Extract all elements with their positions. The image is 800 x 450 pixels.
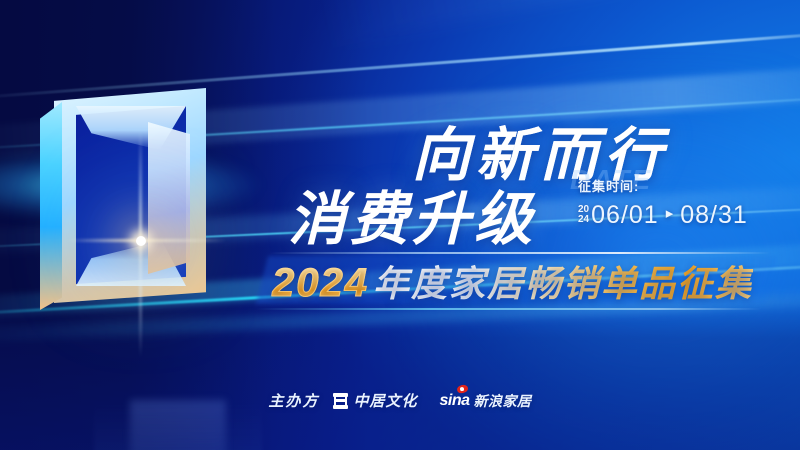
date-range-row: 20 24 06/01 ▸ 08/31	[578, 201, 793, 230]
footer-organizers: 主办方 中居文化 sina 新浪家居	[0, 390, 800, 411]
campaign-banner: 2024 年度家居畅销单品征集	[262, 252, 772, 308]
star-flare-icon	[136, 236, 146, 246]
date-year-stack: 20 24	[578, 205, 589, 227]
banner-edge-top	[270, 252, 770, 254]
banner-text-group: 2024 年度家居畅销单品征集	[272, 255, 753, 307]
date-year-top: 20	[578, 205, 589, 215]
date-year-bottom: 24	[578, 215, 589, 225]
sina-brand-label: 新浪家居	[474, 391, 532, 411]
flare-horizontal-icon	[66, 239, 226, 242]
brand-sina[interactable]: sina 新浪家居	[440, 391, 532, 411]
light-streak-top	[314, 0, 800, 49]
sina-wordmark: sina	[440, 392, 470, 409]
sina-logo-icon: sina	[440, 392, 470, 410]
date-label: 征集时间:	[578, 176, 793, 195]
date-block: DATE 征集时间: 20 24 06/01 ▸ 08/31	[578, 176, 793, 230]
date-separator-icon: ▸	[666, 204, 674, 222]
zhongju-logo-icon	[333, 393, 348, 409]
brand-zhongju[interactable]: 中居文化	[333, 390, 417, 411]
promo-banner: 向新而行 消费升级 DATE 征集时间: 20 24 06/01 ▸ 08/31…	[0, 0, 800, 450]
date-start: 06/01	[591, 201, 659, 230]
door-open-panel	[148, 122, 190, 274]
door-portal-graphic	[40, 88, 240, 318]
date-end: 08/31	[680, 201, 748, 230]
page-subtitle: 消费升级	[288, 172, 536, 256]
organizer-label: 主办方	[268, 390, 319, 411]
door-frame-side	[40, 102, 62, 310]
banner-label: 年度家居畅销单品征集	[373, 255, 753, 307]
banner-edge-bottom	[256, 308, 761, 310]
brand-zhongju-label: 中居文化	[353, 390, 417, 411]
banner-year: 2024	[272, 261, 369, 306]
